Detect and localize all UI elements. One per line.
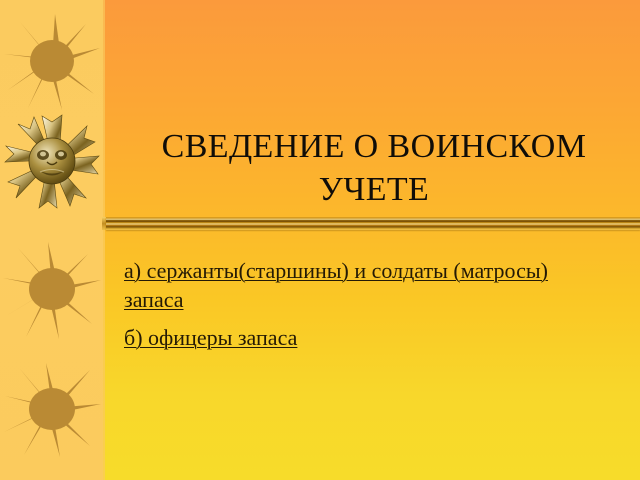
sidebar-edge-divider (103, 0, 105, 480)
metallic-sun-face-icon (2, 112, 102, 212)
page-title: СВЕДЕНИЕ О ВОИНСКОМ УЧЕТЕ (110, 126, 638, 211)
sun-icon (2, 12, 102, 112)
title-divider-bar (106, 217, 640, 230)
slide-body: а) сержанты(старшины) и солдаты (матросы… (124, 256, 574, 360)
sun-icon (2, 360, 102, 460)
body-item-b: б) офицеры запаса (124, 325, 297, 350)
presentation-slide: СВЕДЕНИЕ О ВОИНСКОМ УЧЕТЕ а) сержанты(ст… (0, 0, 640, 480)
title-line-1: СВЕДЕНИЕ О ВОИНСКОМ (162, 128, 587, 165)
sidebar-decoration-panel (0, 0, 105, 480)
sun-icon (2, 240, 102, 340)
list-item: а) сержанты(старшины) и солдаты (матросы… (124, 256, 574, 315)
title-line-2: УЧЕТЕ (319, 171, 429, 208)
list-item: б) офицеры запаса (124, 323, 574, 352)
body-item-a: а) сержанты(старшины) и солдаты (матросы… (124, 258, 548, 312)
